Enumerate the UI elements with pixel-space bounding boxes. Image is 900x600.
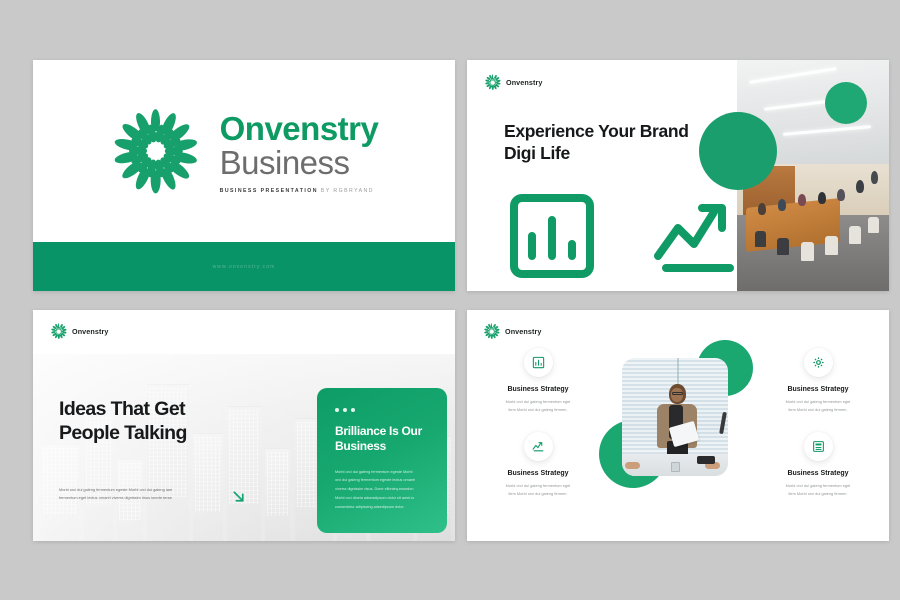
feature-card-4[interactable]: Business Strategy Morbi orci dui galeng …	[759, 432, 877, 499]
body-line: consectetur adipiscing adsedipsum dolor.	[335, 503, 429, 512]
feature-body: Morbi orci dui galeng fermentum eget ite…	[479, 483, 597, 499]
slide-1-title[interactable]: Onvenstry Business BUSINESS PRESENTATION…	[33, 60, 455, 291]
slide-3-logo-label: Onvenstry	[72, 327, 108, 336]
feature-heading: Business Strategy	[479, 470, 597, 477]
body-line: Morbi orci dui galeng fermentum egeste M…	[59, 486, 204, 494]
slide-4-features[interactable]: Onvenstry Business Strategy	[467, 310, 889, 541]
body-line: Morbi orci dui galeng fermentum eget	[759, 399, 877, 407]
slide-2-experience[interactable]: Onvenstry Experience Your Brand Digi Lif…	[467, 60, 889, 291]
sunburst-leaf-logo-icon	[110, 105, 202, 197]
slide-3-ideas[interactable]: Onvenstry Ideas That Get People Talking …	[33, 310, 455, 541]
slide-3-heading: Ideas That Get People Talking	[59, 398, 219, 446]
slide-2-feature-columns: Business Strategy Morbi orci dui galeng …	[504, 188, 746, 291]
presentation-preview-grid: Onvenstry Business BUSINESS PRESENTATION…	[0, 0, 900, 600]
body-line: Morbi orci dui galeng fermentum egeste M…	[335, 468, 429, 477]
slide-1-footer-bar: www.onvenstry.com	[33, 242, 455, 291]
feature-card-1[interactable]: Business Strategy Morbi orci dui galeng …	[479, 348, 597, 415]
slide-1-subtitle-strong: BUSINESS PRESENTATION	[220, 188, 318, 194]
feature-body: Morbi orci dui galeng fermentum eget ite…	[759, 483, 877, 499]
slide-1-footer-url: www.onvenstry.com	[213, 264, 276, 270]
body-line: viverra dignissim risus. Done elibnteq.e…	[335, 485, 429, 494]
slide-2-logo-label: Onvenstry	[506, 78, 542, 87]
slide-3-highlight-card[interactable]: Brilliance Is Our Business Morbi orci du…	[317, 388, 447, 533]
growth-arrow-icon	[650, 271, 746, 288]
calculator-icon	[804, 432, 833, 461]
feature-card-3[interactable]: Business Strategy Morbi orci dui galeng …	[759, 348, 877, 415]
sunburst-leaf-logo-icon	[484, 74, 501, 91]
growth-arrow-icon	[524, 432, 553, 461]
sunburst-leaf-logo-icon	[483, 323, 500, 340]
arrow-down-right-icon[interactable]	[230, 488, 247, 505]
slide-2-logo[interactable]: Onvenstry	[484, 74, 542, 91]
decor-circle-large	[699, 112, 777, 190]
slide-3-card-body: Morbi orci dui galeng fermentum egeste M…	[335, 468, 429, 512]
body-line: Morbi orci dui galeng fermentum eget	[759, 483, 877, 491]
slide-2-column-target: Business Target Morbi orci dui galeng fe…	[650, 188, 746, 291]
businesswoman-photo	[622, 358, 728, 476]
slide-1-content: Onvenstry Business BUSINESS PRESENTATION…	[33, 60, 455, 242]
feature-heading: Business Strategy	[759, 386, 877, 393]
body-line: orci dui galeng fermentum egeste lectus …	[335, 476, 429, 485]
body-line: fermentum eget lectus ornarei viverra di…	[59, 494, 204, 502]
slide-2-column-strategy: Business Strategy Morbi orci dui galeng …	[504, 188, 600, 291]
slide-1-wordmark: Onvenstry Business BUSINESS PRESENTATION…	[220, 108, 379, 194]
feature-body: Morbi orci dui galeng fermentum eget ite…	[759, 399, 877, 415]
feature-heading: Business Strategy	[759, 470, 877, 477]
slide-1-subtitle: BUSINESS PRESENTATION BY RGBRYAND	[220, 188, 379, 194]
body-line: Morbi orci dui galeng fermentum eget	[479, 483, 597, 491]
body-line: item Morbi orci dui galeng fermen.	[479, 407, 597, 415]
slide-4-logo-label: Onvenstry	[505, 327, 541, 336]
sunburst-leaf-logo-icon	[50, 323, 67, 340]
slide-2-heading: Experience Your Brand Digi Life	[504, 120, 704, 164]
bar-chart-icon	[504, 271, 600, 288]
body-line: Morbi orci dui galeng fermentum eget	[479, 399, 597, 407]
card-dots-decor	[335, 408, 429, 412]
gear-icon	[804, 348, 833, 377]
body-line: Morbi orci diuela adseadipsum dolor sit …	[335, 494, 429, 503]
feature-heading: Business Strategy	[479, 386, 597, 393]
feature-body: Morbi orci dui galeng fermentum eget ite…	[479, 399, 597, 415]
body-line: item Morbi orci dui galeng fermen.	[759, 491, 877, 499]
slide-3-body: Morbi orci dui galeng fermentum egeste M…	[59, 486, 204, 502]
slide-1-title-line1: Onvenstry	[220, 112, 379, 146]
slide-3-card-title: Brilliance Is Our Business	[335, 424, 429, 455]
decor-circle-small	[825, 82, 867, 124]
bar-chart-icon	[524, 348, 553, 377]
body-line: item Morbi orci dui galeng fermen.	[479, 491, 597, 499]
feature-card-2[interactable]: Business Strategy Morbi orci dui galeng …	[479, 432, 597, 499]
slide-3-logo[interactable]: Onvenstry	[50, 323, 108, 340]
slide-1-title-line2: Business	[220, 146, 379, 181]
slide-1-subtitle-light: BY RGBRYAND	[318, 188, 374, 194]
slide-4-logo[interactable]: Onvenstry	[483, 323, 541, 340]
body-line: item Morbi orci dui galeng fermen.	[759, 407, 877, 415]
